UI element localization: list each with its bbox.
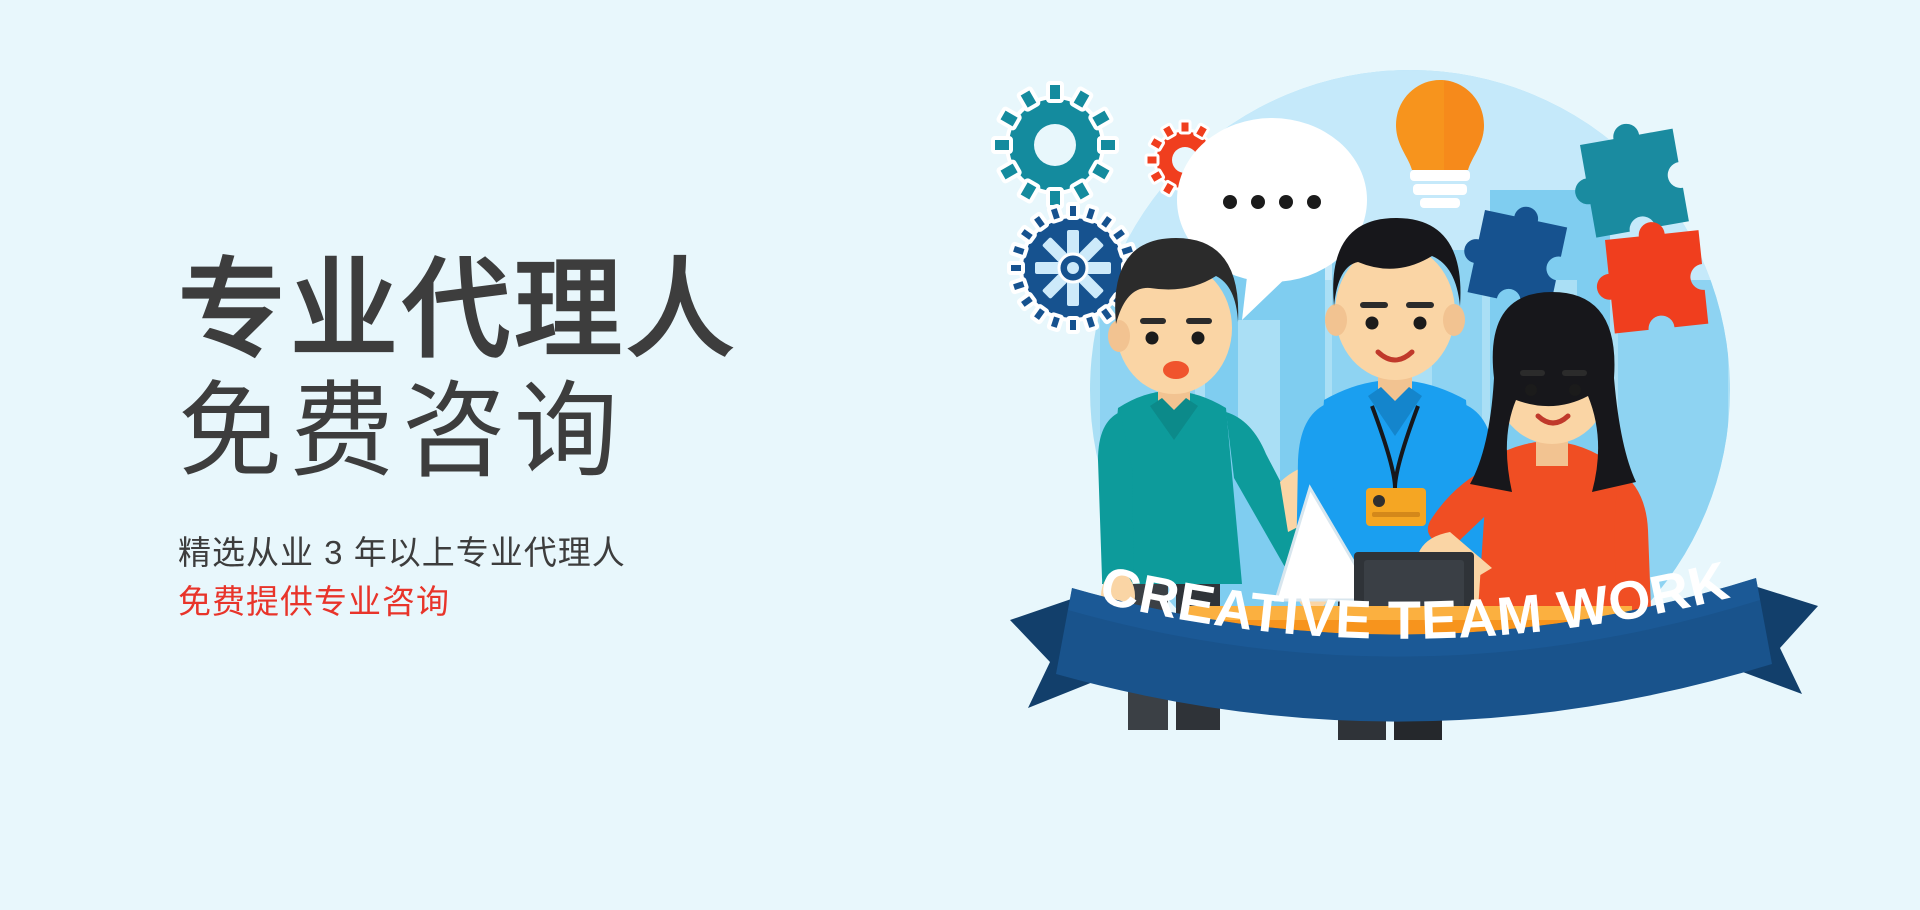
headline-secondary: 免费咨询 xyxy=(178,371,858,494)
gear-teal-icon xyxy=(993,83,1117,207)
subtitle-line-2: 免费提供专业咨询 xyxy=(178,577,858,627)
id-badge-icon xyxy=(1366,488,1426,526)
headline-primary: 专业代理人 xyxy=(178,250,858,371)
headline-text-block: 专业代理人 免费咨询 精选从业 3 年以上专业代理人 免费提供专业咨询 xyxy=(178,250,858,627)
promo-banner: 专业代理人 免费咨询 精选从业 3 年以上专业代理人 免费提供专业咨询 xyxy=(0,0,1920,910)
teamwork-illustration: CREATIVE TEAM WORK xyxy=(980,40,1860,880)
subtitle-line-1: 精选从业 3 年以上专业代理人 xyxy=(178,528,858,578)
